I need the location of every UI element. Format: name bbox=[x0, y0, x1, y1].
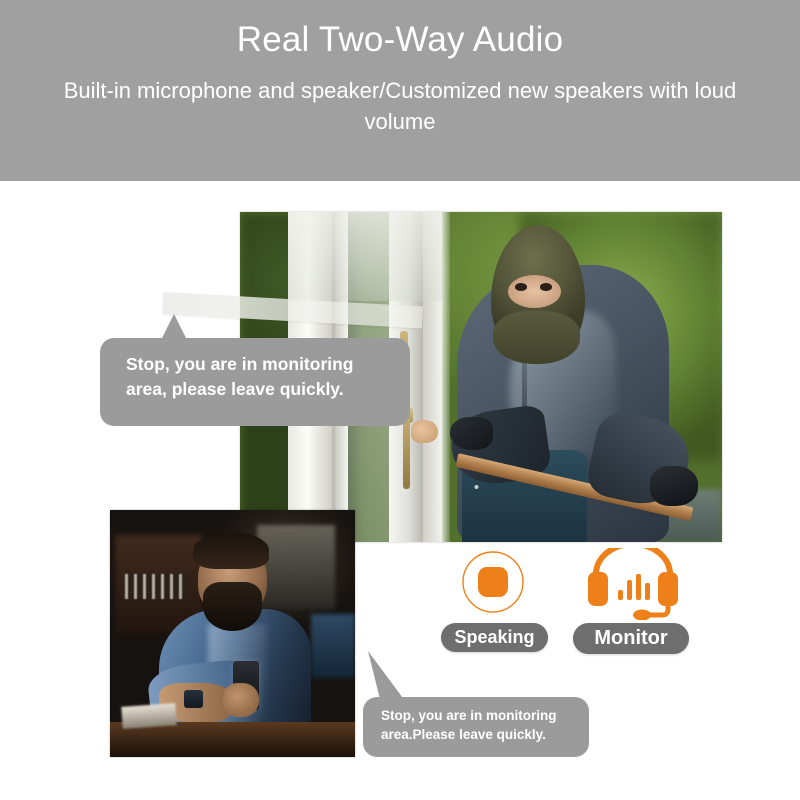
photo-window-right bbox=[311, 614, 355, 678]
photo-intruder-left-eye bbox=[515, 283, 528, 291]
monitor-button-label: Monitor bbox=[594, 627, 667, 650]
speech-bubble-bottom: Stop, you are in monitoring area.Please … bbox=[363, 697, 589, 757]
photo-man-hair bbox=[193, 532, 269, 569]
page-subtitle: Built-in microphone and speaker/Customiz… bbox=[50, 75, 750, 137]
photo-papers bbox=[122, 703, 177, 729]
page-title: Real Two-Way Audio bbox=[237, 18, 564, 62]
speech-bubble-bottom-text: Stop, you are in monitoring area.Please … bbox=[381, 706, 579, 744]
man-with-phone-photo bbox=[110, 510, 355, 757]
photo-intruder-face bbox=[508, 275, 561, 308]
photo-intruder-right-glove bbox=[650, 466, 698, 506]
photo-intruder-left-glove bbox=[450, 417, 493, 450]
photo-intruder-right-eye bbox=[540, 283, 553, 291]
promo-banner: Real Two-Way Audio Built-in microphone a… bbox=[0, 0, 800, 800]
photo-table bbox=[110, 722, 355, 757]
photo-window-left bbox=[257, 525, 335, 609]
photo-wristwatch bbox=[184, 690, 204, 707]
headset-monitor-icon[interactable] bbox=[584, 548, 682, 620]
monitor-button[interactable]: Monitor bbox=[573, 623, 689, 654]
speaking-button-label: Speaking bbox=[454, 627, 534, 648]
speech-bubble-top: Stop, you are in monitoring area, please… bbox=[100, 338, 410, 426]
photo-door-handle-lower bbox=[403, 417, 410, 490]
photo-balaclava-lower bbox=[493, 311, 580, 364]
speaking-button[interactable]: Speaking bbox=[441, 623, 548, 652]
photo-top-sash bbox=[288, 212, 442, 301]
photo-man-hand bbox=[223, 683, 260, 718]
speaking-stop-icon[interactable] bbox=[461, 550, 525, 614]
speech-bubble-bottom-tail bbox=[368, 651, 402, 703]
photo-man-beard bbox=[203, 582, 262, 631]
header-band: Real Two-Way Audio Built-in microphone a… bbox=[0, 0, 800, 181]
photo-glass-edge bbox=[442, 212, 450, 542]
photo-shelf bbox=[125, 574, 189, 599]
speech-bubble-top-text: Stop, you are in monitoring area, please… bbox=[126, 352, 394, 402]
photo-gloved-hand-on-door bbox=[411, 420, 438, 443]
